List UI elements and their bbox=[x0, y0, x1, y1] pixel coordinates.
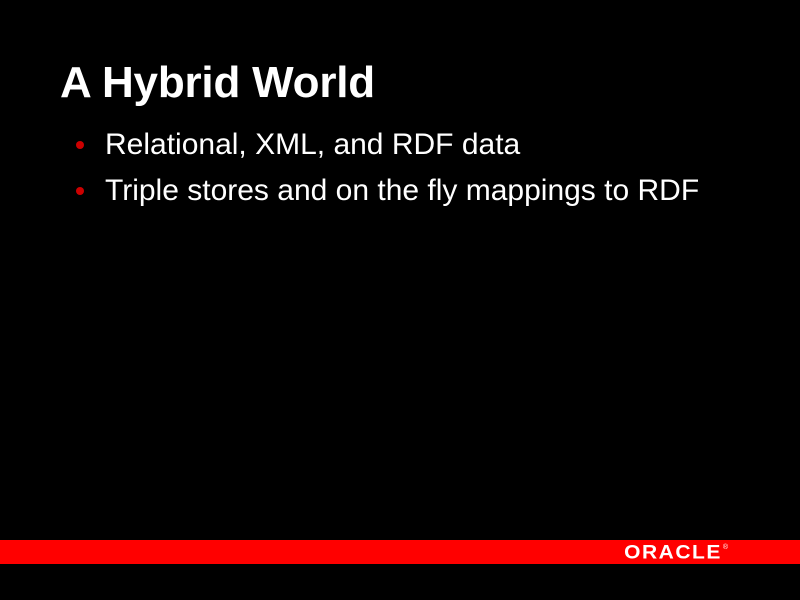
list-item: Relational, XML, and RDF data bbox=[60, 122, 760, 168]
list-item-label: Triple stores and on the fly mappings to… bbox=[105, 176, 699, 206]
trademark-icon: ® bbox=[723, 544, 728, 551]
slide-content-area: A Hybrid World Relational, XML, and RDF … bbox=[0, 0, 800, 540]
oracle-logo: ORACLE ® bbox=[624, 540, 728, 564]
list-item: Triple stores and on the fly mappings to… bbox=[60, 168, 760, 214]
bullet-dot-icon bbox=[76, 141, 84, 149]
bullet-dot-icon bbox=[76, 187, 84, 195]
list-item-label: Relational, XML, and RDF data bbox=[105, 130, 520, 160]
slide-title: A Hybrid World bbox=[60, 59, 375, 107]
oracle-wordmark-text: ORACLE bbox=[624, 542, 722, 561]
presentation-slide: A Hybrid World Relational, XML, and RDF … bbox=[0, 0, 800, 600]
bullet-list: Relational, XML, and RDF data Triple sto… bbox=[60, 122, 760, 214]
